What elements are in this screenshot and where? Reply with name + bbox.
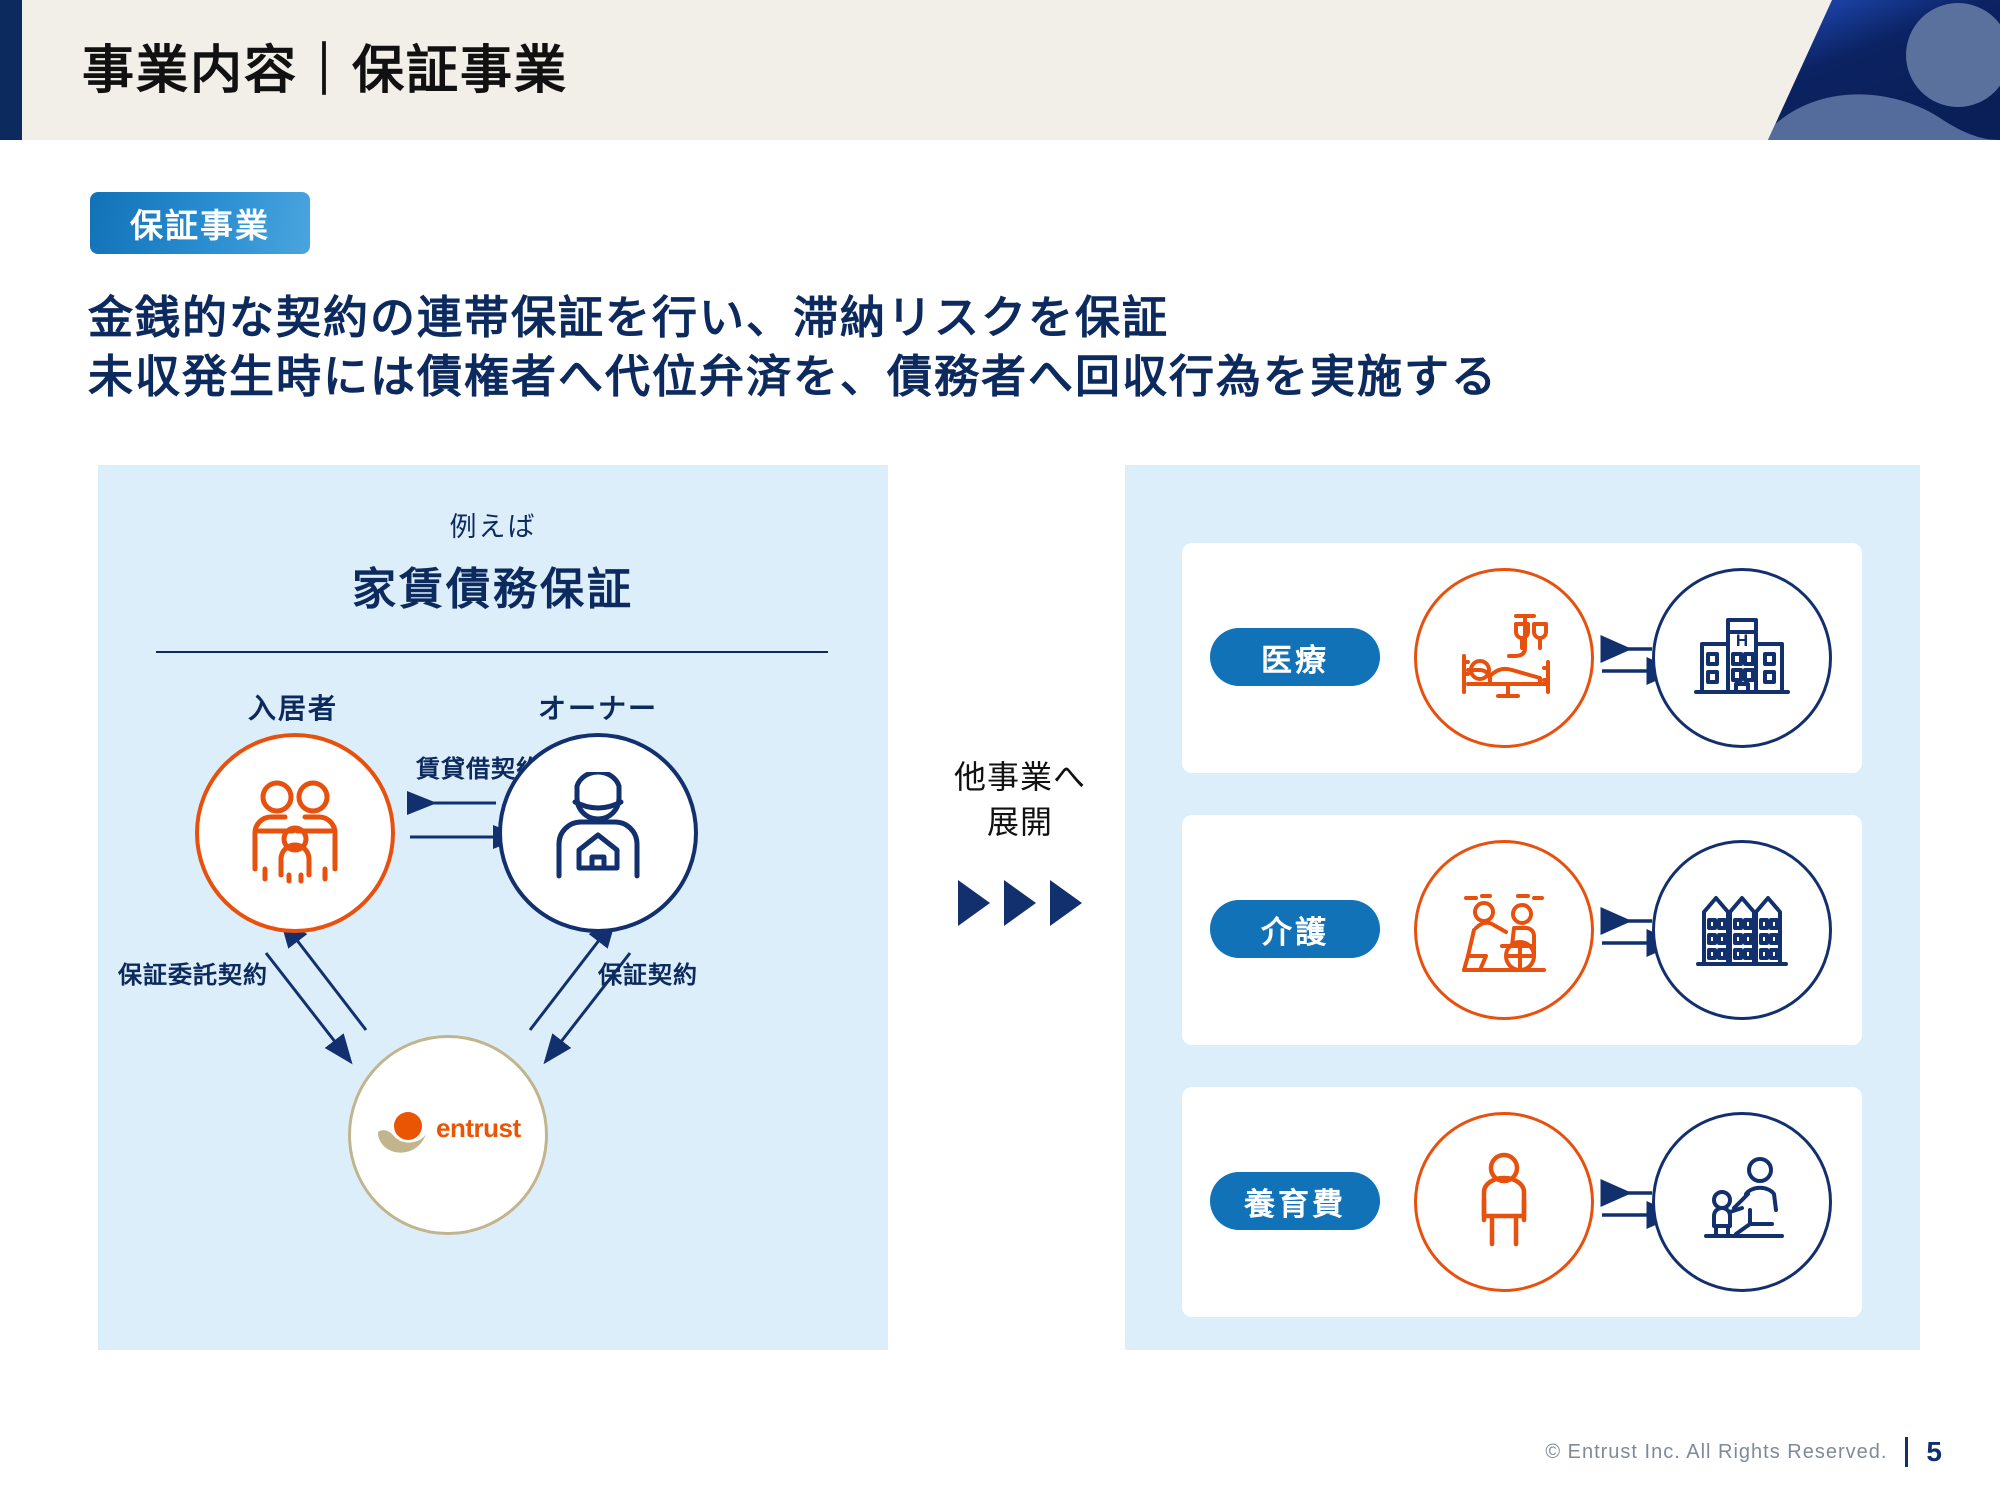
patient-bed-icon bbox=[1448, 600, 1560, 717]
page-title: 事業内容｜保証事業 bbox=[82, 28, 568, 103]
page-footer: © Entrust Inc. All Rights Reserved. 5 bbox=[1545, 1436, 1942, 1468]
person-icon-circle bbox=[1414, 1112, 1594, 1292]
section-badge: 保証事業 bbox=[90, 192, 310, 254]
node-label-tenant: 入居者 bbox=[183, 687, 403, 727]
svg-text:entrust: entrust bbox=[436, 1113, 521, 1143]
care-facility-icon-circle bbox=[1652, 840, 1832, 1020]
triangle-arrow-icon bbox=[1004, 880, 1036, 926]
transition-arrows bbox=[920, 880, 1120, 926]
card-pill-medical: 医療 bbox=[1210, 628, 1380, 686]
example-label: 例えば bbox=[98, 505, 888, 544]
section-headline: 金銭的な契約の連帯保証を行い、滞納リスクを保証 未収発生時には債権者へ代位弁済を… bbox=[88, 288, 1498, 407]
node-owner bbox=[498, 733, 698, 933]
header-accent-bar bbox=[0, 0, 22, 140]
example-title: 家賃債務保証 bbox=[98, 553, 888, 617]
parent-child-icon-circle bbox=[1652, 1112, 1832, 1292]
page-header: 事業内容｜保証事業 bbox=[0, 0, 2000, 140]
family-icon bbox=[235, 771, 355, 896]
triangle-arrow-icon bbox=[958, 880, 990, 926]
expansion-card-nursing: 介護 bbox=[1182, 815, 1862, 1045]
hospital-icon-circle: H bbox=[1652, 568, 1832, 748]
section-badge-label: 保証事業 bbox=[130, 199, 270, 247]
card-pill-label: 養育費 bbox=[1244, 1179, 1346, 1224]
card-pill-nursing: 介護 bbox=[1210, 900, 1380, 958]
node-tenant bbox=[195, 733, 395, 933]
header-decoration bbox=[1720, 0, 2000, 140]
footer-copyright: © Entrust Inc. All Rights Reserved. bbox=[1545, 1441, 1887, 1464]
patient-bed-icon-circle bbox=[1414, 568, 1594, 748]
expansion-card-medical: 医療 bbox=[1182, 543, 1862, 773]
svg-text:H: H bbox=[1736, 631, 1748, 650]
parent-child-icon bbox=[1686, 1144, 1798, 1261]
headline-line-1: 金銭的な契約の連帯保証を行い、滞納リスクを保証 bbox=[88, 288, 1498, 347]
transition-text: 他事業へ 展開 bbox=[920, 755, 1120, 846]
node-entrust: entrust bbox=[348, 1035, 548, 1235]
node-label-owner: オーナー bbox=[488, 687, 708, 727]
owner-house-icon bbox=[539, 772, 657, 895]
transition-line-2: 展開 bbox=[920, 800, 1120, 845]
guarantee-diagram-panel: 例えば 家賃債務保証 入居者 オーナー 賃貸借契約 保証委託契約 保証契約 bbox=[98, 465, 888, 1350]
wheelchair-care-icon bbox=[1448, 872, 1560, 989]
relation-label-guarantee: 保証契約 bbox=[598, 955, 698, 990]
expansion-card-childsupport: 養育費 bbox=[1182, 1087, 1862, 1317]
headline-line-2: 未収発生時には債権者へ代位弁済を、債務者へ回収行為を実施する bbox=[88, 347, 1498, 406]
person-icon bbox=[1448, 1144, 1560, 1261]
card-pill-childsupport: 養育費 bbox=[1210, 1172, 1380, 1230]
card-pill-label: 医療 bbox=[1261, 635, 1329, 680]
footer-divider bbox=[1905, 1437, 1908, 1467]
footer-page-number: 5 bbox=[1926, 1436, 1942, 1468]
triangle-arrow-icon bbox=[1050, 880, 1082, 926]
relation-label-entrustment: 保証委託契約 bbox=[118, 955, 268, 990]
wheelchair-care-icon-circle bbox=[1414, 840, 1594, 1020]
hospital-icon: H bbox=[1686, 600, 1798, 717]
entrust-logo-icon: entrust bbox=[368, 1102, 528, 1169]
transition-line-1: 他事業へ bbox=[920, 755, 1120, 800]
expansion-panel: 医療 bbox=[1125, 465, 1920, 1350]
card-pill-label: 介護 bbox=[1261, 907, 1329, 952]
care-facility-icon bbox=[1686, 872, 1798, 989]
title-divider bbox=[156, 651, 828, 653]
